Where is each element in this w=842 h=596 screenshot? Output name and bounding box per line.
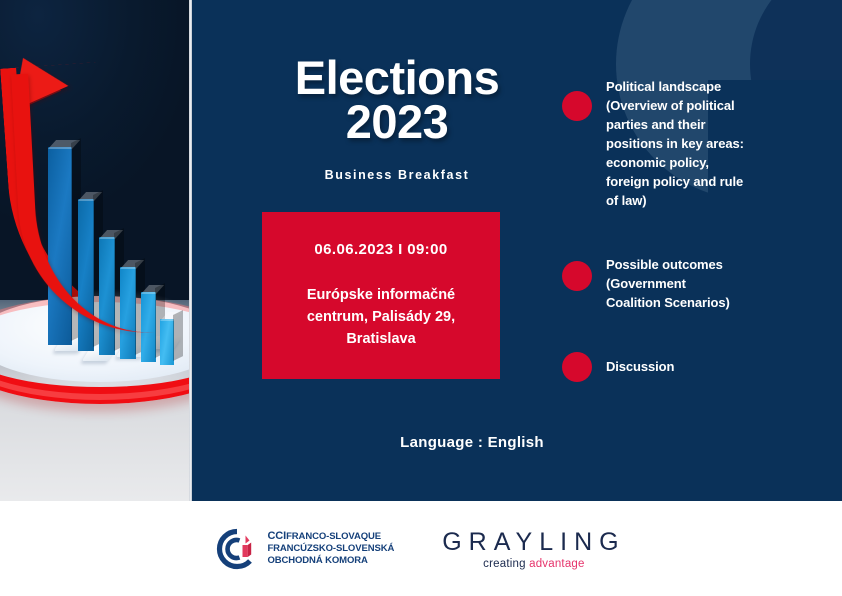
event-datetime: 06.06.2023 I 09:00 [314,241,447,258]
cci-line1-rest: FRANCO-SLOVAQUE [286,531,381,542]
cci-wordmark: CCIFRANCO-SLOVAQUE FRANCÚZSKO-SLOVENSKÁ … [267,530,394,567]
event-banner: Elections 2023 Business Breakfast 06.06.… [0,0,842,501]
grayling-tagline-part1: creating [483,558,529,570]
page-title: Elections 2023 [252,56,542,144]
banner-content: Elections 2023 Business Breakfast 06.06.… [192,0,842,501]
cci-line3: OBCHODNÁ KOMORA [267,555,394,567]
title-block: Elections 2023 Business Breakfast [252,56,542,182]
grayling-tagline: creating advantage [442,558,625,570]
cci-logo: CCIFRANCO-SLOVAQUE FRANCÚZSKO-SLOVENSKÁ … [216,528,394,570]
event-language: Language : English [192,434,752,451]
agenda-item-label: Discussion [606,352,674,376]
grayling-wordmark: GRAYLING [442,528,625,557]
cci-mark-icon [216,528,258,570]
event-venue: Európske informačné centrum, Palisády 29… [307,284,455,350]
cci-line2: FRANCÚZSKO-SLOVENSKÁ [267,543,394,555]
grayling-logo: GRAYLING creating advantage [442,528,625,570]
bullet-dot-icon [562,352,592,382]
bullet-dot-icon [562,91,592,121]
grayling-tagline-part2: advantage [529,558,585,570]
event-details-box: 06.06.2023 I 09:00 Európske informačné c… [262,212,500,379]
bullet-dot-icon [562,261,592,291]
agenda-item: Possible outcomes (Government Coalition … [562,250,832,312]
agenda-item: Discussion [562,352,832,382]
footer-logos: CCIFRANCO-SLOVAQUE FRANCÚZSKO-SLOVENSKÁ … [0,501,842,596]
agenda-list: Political landscape (Overview of politic… [562,72,832,406]
bar-chart-artwork [0,0,189,501]
cci-line1-strong: CCI [267,530,286,542]
agenda-item-label: Possible outcomes (Government Coalition … [606,250,730,312]
page-subtitle: Business Breakfast [252,168,542,182]
agenda-item-label: Political landscape (Overview of politic… [606,72,744,210]
agenda-item: Political landscape (Overview of politic… [562,72,832,210]
